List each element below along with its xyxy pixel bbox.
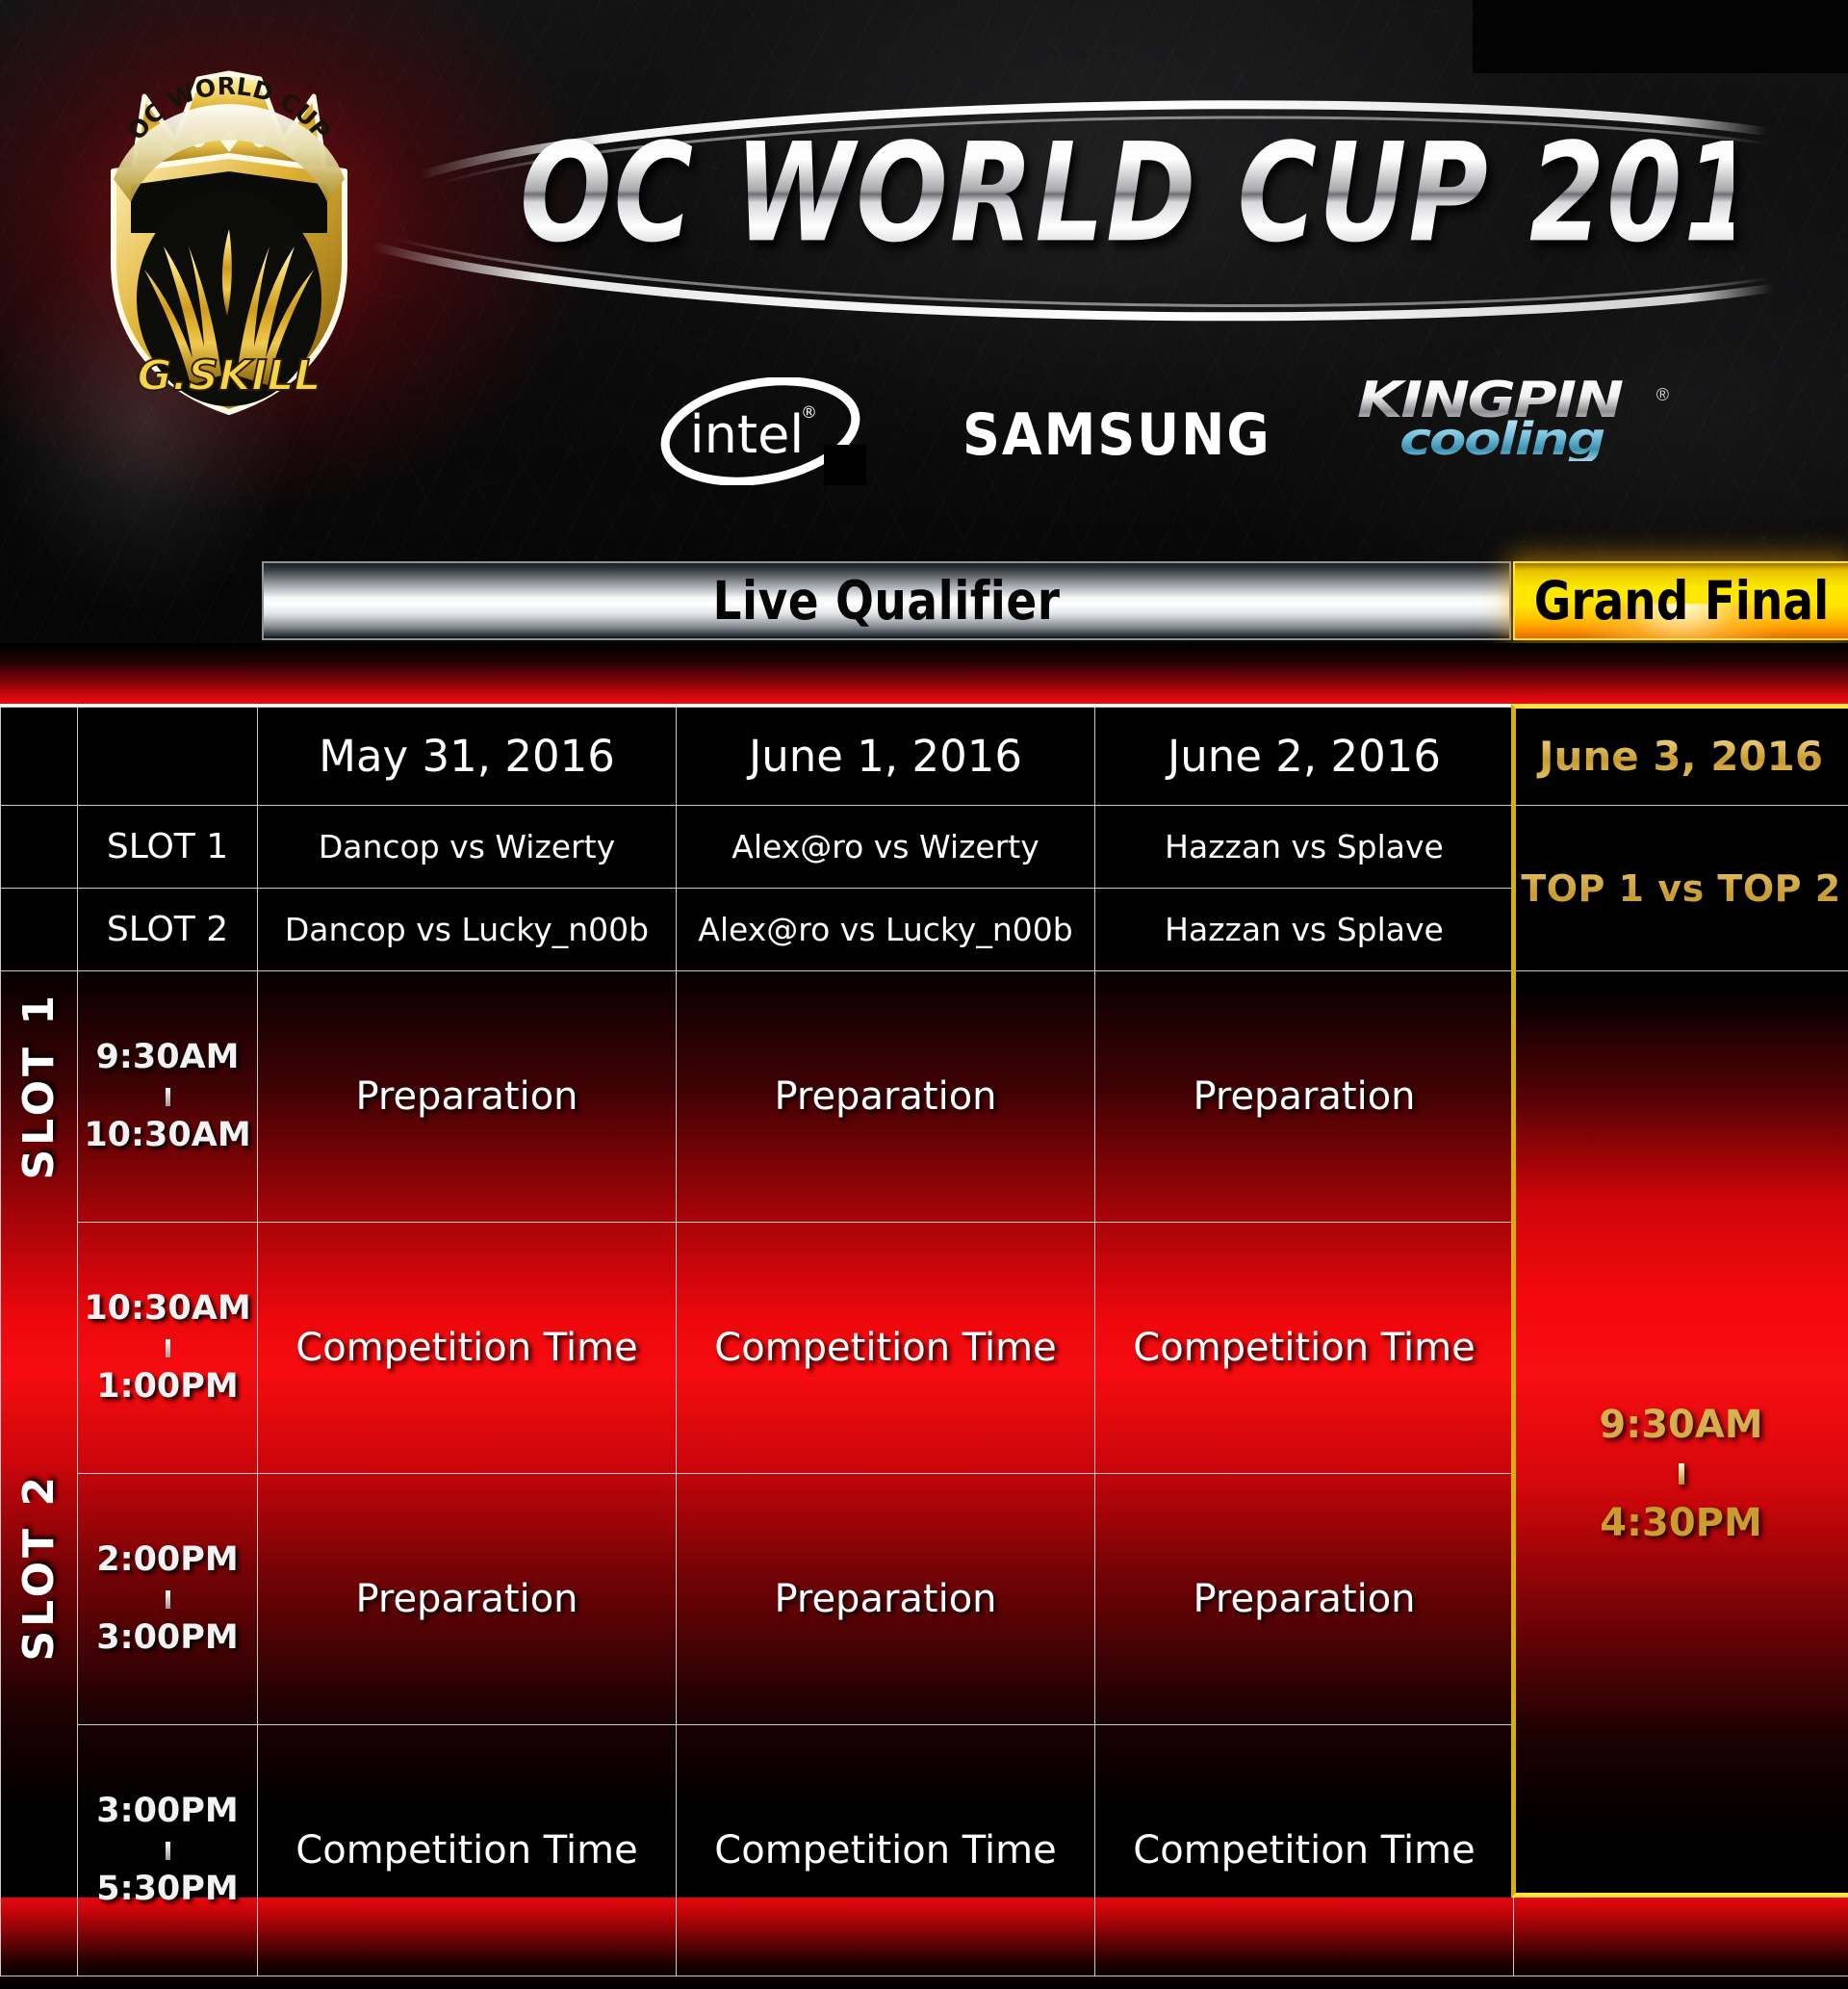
- kingpin-cooling-logo: KINGPIN cooling ®: [1357, 377, 1675, 485]
- schedule-row-block-0: 9:30AM 10:30AM Preparation Preparation P…: [1, 971, 1848, 1223]
- red-glow-top-divider: [0, 643, 1848, 704]
- matchup-slot2-day3: Hazzan vs Splave: [1095, 889, 1514, 971]
- grand-final-label: Grand Final: [1534, 570, 1829, 633]
- schedule-table-container: May 31, 2016 June 1, 2016 June 2, 2016 J…: [0, 704, 1848, 1898]
- grand-final-time-end: 4:30PM: [1600, 1501, 1762, 1545]
- gskill-oc-world-cup-emblem: OC WORLD CUP G.SKILL: [75, 58, 383, 419]
- time-separator-icon: [166, 1590, 170, 1609]
- matchup-slot1-day2: Alex@ro vs Wizerty: [677, 806, 1095, 889]
- matchup-slot1-label: SLOT 1: [78, 806, 258, 889]
- matchup-slot2-label: SLOT 2: [78, 889, 258, 971]
- activity-block-1-day1: Competition Time: [258, 1223, 677, 1474]
- matchup-spacer-slot2: [1, 889, 78, 971]
- header-cell-day2: June 1, 2016: [677, 708, 1095, 806]
- svg-text:intel: intel: [690, 404, 805, 465]
- title-block: OC WORLD CUP 2016: [520, 101, 1771, 308]
- page-title: OC WORLD CUP 2016: [520, 126, 1733, 263]
- grand-final-time-start: 9:30AM: [1599, 1403, 1762, 1447]
- matchup-slot1-day3: Hazzan vs Splave: [1095, 806, 1514, 889]
- table-header-row: May 31, 2016 June 1, 2016 June 2, 2016 J…: [1, 708, 1848, 806]
- section-banner-row: Live Qualifier Grand Final: [262, 561, 1848, 640]
- activity-block-1-day2: Competition Time: [677, 1223, 1095, 1474]
- grand-final-time-cell: 9:30AM 4:30PM: [1514, 971, 1848, 1976]
- top-right-panel: [1473, 0, 1848, 73]
- vertical-slot-band-cell: [1, 971, 78, 1976]
- activity-block-3-day2: Competition Time: [677, 1725, 1095, 1976]
- gold-time-separator-icon: [1679, 1463, 1684, 1485]
- time-start-3: 3:00PM: [96, 1792, 239, 1830]
- cooling-wordmark: cooling: [1399, 419, 1735, 461]
- time-cell-block-3: 3:00PM 5:30PM: [78, 1725, 258, 1976]
- live-qualifier-label: Live Qualifier: [713, 570, 1061, 633]
- time-start-0: 9:30AM: [96, 1038, 240, 1076]
- activity-block-2-day1: Preparation: [258, 1474, 677, 1725]
- time-start-1: 10:30AM: [84, 1289, 250, 1328]
- time-end-2: 3:00PM: [96, 1618, 239, 1657]
- activity-block-2-day2: Preparation: [677, 1474, 1095, 1725]
- header-cell-day1: May 31, 2016: [258, 708, 677, 806]
- svg-text:®: ®: [801, 403, 817, 423]
- header-cell-spacer: [1, 708, 78, 806]
- activity-block-3-day1: Competition Time: [258, 1725, 677, 1976]
- time-separator-icon: [166, 1088, 170, 1106]
- activity-block-0-day3: Preparation: [1095, 971, 1514, 1223]
- grand-final-banner: Grand Final: [1513, 561, 1848, 640]
- activity-block-3-day3: Competition Time: [1095, 1725, 1514, 1976]
- intel-logo-icon: intel ®: [654, 377, 866, 485]
- poster-root: OC WORLD CUP G.SKILL: [0, 0, 1848, 1989]
- header-cell-grand-final: June 3, 2016: [1514, 708, 1848, 806]
- matchup-slot2-day1: Dancop vs Lucky_n00b: [258, 889, 677, 971]
- samsung-logo: SAMSUNG: [962, 401, 1271, 468]
- activity-block-2-day3: Preparation: [1095, 1474, 1514, 1725]
- time-end-1: 1:00PM: [96, 1367, 239, 1406]
- activity-block-1-day3: Competition Time: [1095, 1223, 1514, 1474]
- header-cell-day3: June 2, 2016: [1095, 708, 1514, 806]
- registered-mark-icon: ®: [1656, 385, 1669, 405]
- time-cell-block-0: 9:30AM 10:30AM: [78, 971, 258, 1223]
- emblem-bottom-text: G.SKILL: [137, 351, 321, 400]
- matchup-slot2-day2: Alex@ro vs Lucky_n00b: [677, 889, 1095, 971]
- schedule-table: May 31, 2016 June 1, 2016 June 2, 2016 J…: [0, 707, 1848, 1976]
- matchup-row-slot1: SLOT 1 Dancop vs Wizerty Alex@ro vs Wize…: [1, 806, 1848, 889]
- time-start-2: 2:00PM: [96, 1540, 239, 1579]
- header-cell-slot: [78, 708, 258, 806]
- matchup-spacer-slot1: [1, 806, 78, 889]
- time-end-0: 10:30AM: [84, 1116, 250, 1154]
- live-qualifier-banner: Live Qualifier: [262, 561, 1511, 640]
- activity-block-0-day1: Preparation: [258, 971, 677, 1223]
- activity-block-0-day2: Preparation: [677, 971, 1095, 1223]
- time-end-3: 5:30PM: [96, 1870, 239, 1908]
- matchup-grand-final: TOP 1 vs TOP 2: [1514, 806, 1848, 971]
- time-separator-icon: [166, 1842, 170, 1860]
- matchup-slot1-day1: Dancop vs Wizerty: [258, 806, 677, 889]
- time-cell-block-1: 10:30AM 1:00PM: [78, 1223, 258, 1474]
- sponsor-row: intel ® SAMSUNG KINGPIN cooling ®: [597, 375, 1732, 486]
- time-cell-block-2: 2:00PM 3:00PM: [78, 1474, 258, 1725]
- time-separator-icon: [166, 1339, 170, 1357]
